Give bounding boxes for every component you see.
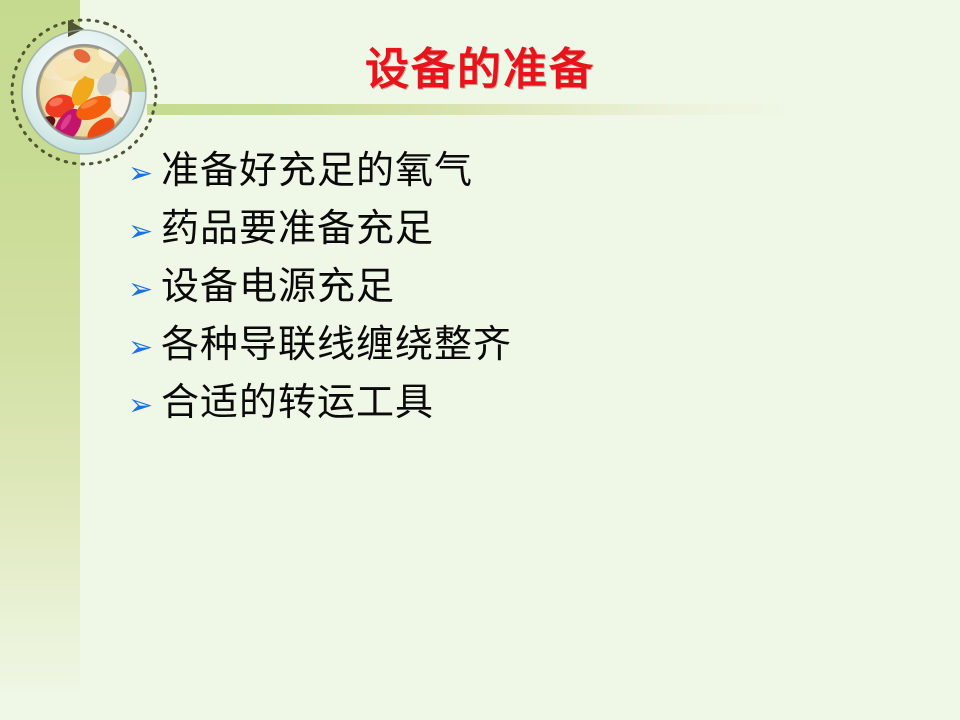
title-underline-rule — [147, 104, 827, 115]
list-item-label: 各种导联线缠绕整齐 — [161, 322, 512, 368]
list-item: ➢ 合适的转运工具 — [128, 380, 918, 438]
list-item-label: 合适的转运工具 — [161, 380, 434, 426]
arrow-bullet-icon: ➢ — [128, 383, 161, 429]
arrow-bullet-icon: ➢ — [128, 267, 161, 313]
page-title: 设备的准备 — [0, 44, 960, 96]
arrow-bullet-icon: ➢ — [128, 325, 161, 371]
list-item-label: 设备电源充足 — [161, 264, 395, 310]
list-item: ➢ 各种导联线缠绕整齐 — [128, 322, 918, 380]
arrow-bullet-icon: ➢ — [128, 151, 161, 197]
list-item: ➢ 设备电源充足 — [128, 264, 918, 322]
list-item: ➢ 药品要准备充足 — [128, 206, 918, 264]
list-item-label: 准备好充足的氧气 — [161, 148, 473, 194]
list-item-label: 药品要准备充足 — [161, 206, 434, 252]
slide-canvas: 设备的准备 ➢ 准备好充足的氧气 ➢ 药品要准备充足 ➢ 设备电源充足 ➢ 各种… — [0, 0, 960, 720]
arrow-bullet-icon: ➢ — [128, 209, 161, 255]
list-item: ➢ 准备好充足的氧气 — [128, 148, 918, 206]
bullet-list: ➢ 准备好充足的氧气 ➢ 药品要准备充足 ➢ 设备电源充足 ➢ 各种导联线缠绕整… — [128, 148, 918, 438]
